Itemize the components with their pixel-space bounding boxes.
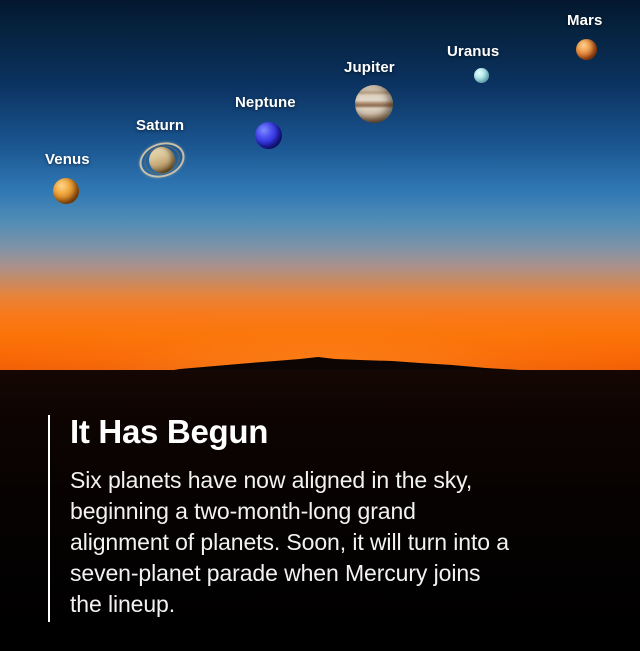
planet-label-jupiter: Jupiter: [344, 59, 395, 76]
planet-jupiter-icon: [355, 85, 393, 123]
infographic-stage: VenusSaturnNeptuneJupiterUranusMars It H…: [0, 0, 640, 651]
planet-label-neptune: Neptune: [235, 94, 296, 111]
planet-label-venus: Venus: [45, 151, 90, 168]
planet-venus-icon: [53, 178, 79, 204]
planet-mars-icon: [576, 39, 597, 60]
planet-neptune-icon: [255, 122, 282, 149]
sky-gradient-background: [0, 0, 640, 380]
caption-accent-rule: [48, 415, 50, 622]
planet-label-uranus: Uranus: [447, 43, 499, 60]
planet-uranus-icon: [474, 68, 489, 83]
planet-label-saturn: Saturn: [136, 117, 184, 134]
planet-label-mars: Mars: [567, 12, 602, 29]
caption-body: Six planets have now aligned in the sky,…: [70, 465, 518, 620]
caption-block: It Has Begun Six planets have now aligne…: [48, 413, 518, 620]
caption-title: It Has Begun: [70, 413, 518, 451]
